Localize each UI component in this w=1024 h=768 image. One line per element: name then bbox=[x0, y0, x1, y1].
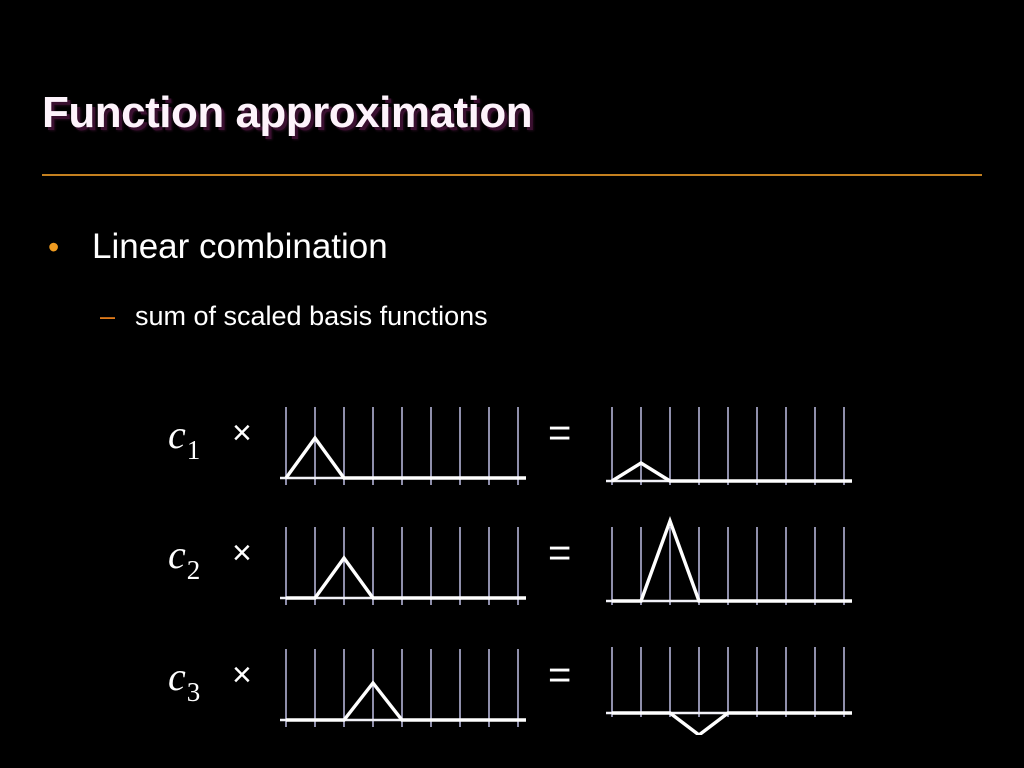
equals-sign: = bbox=[548, 413, 571, 453]
multiplication-sign: × bbox=[232, 416, 252, 450]
coefficient-symbol: c1 bbox=[168, 415, 200, 464]
equation-row: c2 × bbox=[0, 505, 1024, 635]
basis-curve-2 bbox=[286, 558, 526, 598]
slide-canvas: Function approximation • Linear combinat… bbox=[0, 0, 1024, 768]
scaled-curve-2 bbox=[612, 521, 852, 601]
scaled-curve-3 bbox=[612, 713, 852, 735]
gridlines bbox=[612, 407, 844, 485]
scaled-plot-svg bbox=[604, 393, 854, 493]
scaled-plot-svg bbox=[604, 635, 854, 735]
basis-curve-1 bbox=[286, 438, 526, 478]
equation-row: c3 × bbox=[0, 627, 1024, 757]
gridlines bbox=[612, 527, 844, 605]
gridlines bbox=[286, 649, 518, 727]
basis-plot-svg bbox=[278, 513, 528, 613]
basis-function-plot bbox=[278, 635, 528, 735]
multiplication-sign: × bbox=[232, 536, 252, 570]
coefficient-letter: c bbox=[168, 654, 186, 699]
basis-plot-svg bbox=[278, 393, 528, 493]
multiplication-sign: × bbox=[232, 658, 252, 692]
equation-list: c1 × bbox=[0, 0, 1024, 768]
basis-plot-svg bbox=[278, 635, 528, 735]
basis-function-plot bbox=[278, 393, 528, 493]
equals-sign: = bbox=[548, 655, 571, 695]
scaled-function-plot bbox=[604, 513, 854, 613]
coefficient-symbol: c3 bbox=[168, 657, 200, 706]
gridlines bbox=[286, 527, 518, 605]
basis-function-plot bbox=[278, 513, 528, 613]
basis-curve-3 bbox=[286, 683, 526, 720]
scaled-curve-1 bbox=[612, 463, 852, 481]
equals-sign: = bbox=[548, 533, 571, 573]
coefficient-letter: c bbox=[168, 532, 186, 577]
coefficient-subscript: 3 bbox=[187, 677, 201, 707]
coefficient-symbol: c2 bbox=[168, 535, 200, 584]
gridlines bbox=[612, 647, 844, 717]
scaled-function-plot bbox=[604, 635, 854, 735]
scaled-function-plot bbox=[604, 393, 854, 493]
scaled-plot-svg bbox=[604, 513, 854, 613]
equation-row: c1 × bbox=[0, 385, 1024, 515]
coefficient-subscript: 2 bbox=[187, 555, 201, 585]
coefficient-letter: c bbox=[168, 412, 186, 457]
coefficient-subscript: 1 bbox=[187, 435, 201, 465]
